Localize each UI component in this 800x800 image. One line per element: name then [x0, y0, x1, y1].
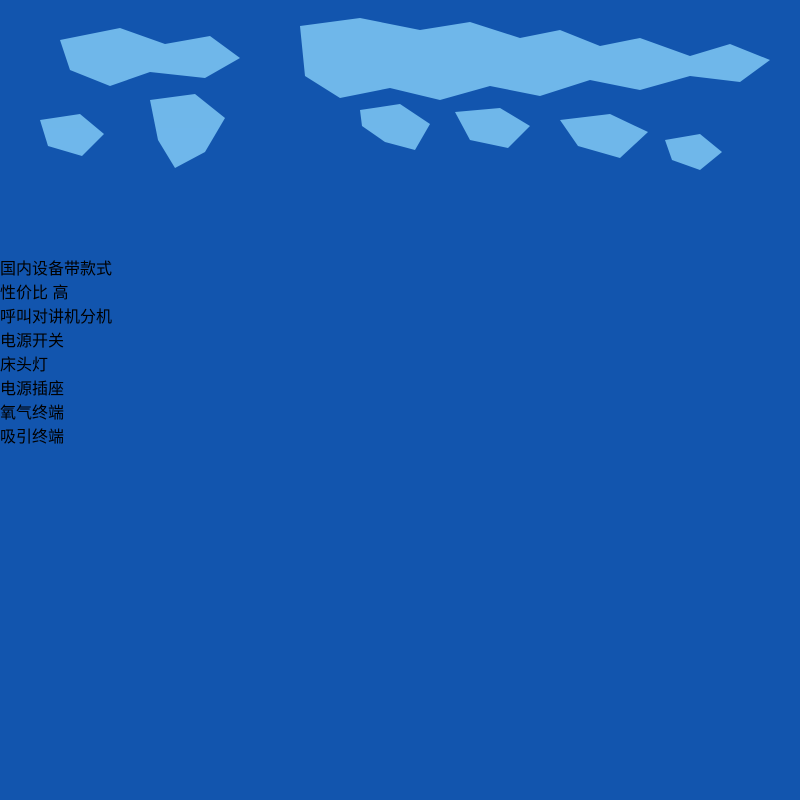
headline-line-2: 性价比 高 [0, 279, 800, 303]
headline-part-3: 款式 [80, 261, 112, 278]
headline-block: 国内设备带款式 性价比 高 [0, 255, 800, 303]
leader-line-bed-lamp [0, 579, 800, 800]
callout-label-power-switch: 电源开关 [0, 327, 800, 351]
leader-line-power-switch [0, 513, 800, 579]
callout-label-power-socket: 电源插座 [0, 375, 800, 399]
callout-label-oxygen-outlet: 氧气终端 [0, 399, 800, 423]
headline-emphasis: 高 [52, 285, 68, 302]
callout-label-intercom: 呼叫对讲机分机 [0, 303, 800, 327]
callout-label-suction-outlet: 吸引终端 [0, 423, 800, 447]
headline-part-2-highlight: 设备带 [32, 261, 80, 278]
headline-line-1: 国内设备带款式 [0, 255, 800, 279]
leader-line-intercom [0, 447, 800, 513]
promo-image: 国内设备带款式 性价比 高 呼叫对讲机分机 电源开关 床头灯 电源插座 氧气终端… [0, 0, 800, 800]
headline-part-1: 国内 [0, 261, 32, 278]
world-map-silhouette [0, 0, 800, 250]
callout-label-bed-lamp: 床头灯 [0, 351, 800, 375]
headline-subtext: 性价比 [0, 285, 48, 302]
